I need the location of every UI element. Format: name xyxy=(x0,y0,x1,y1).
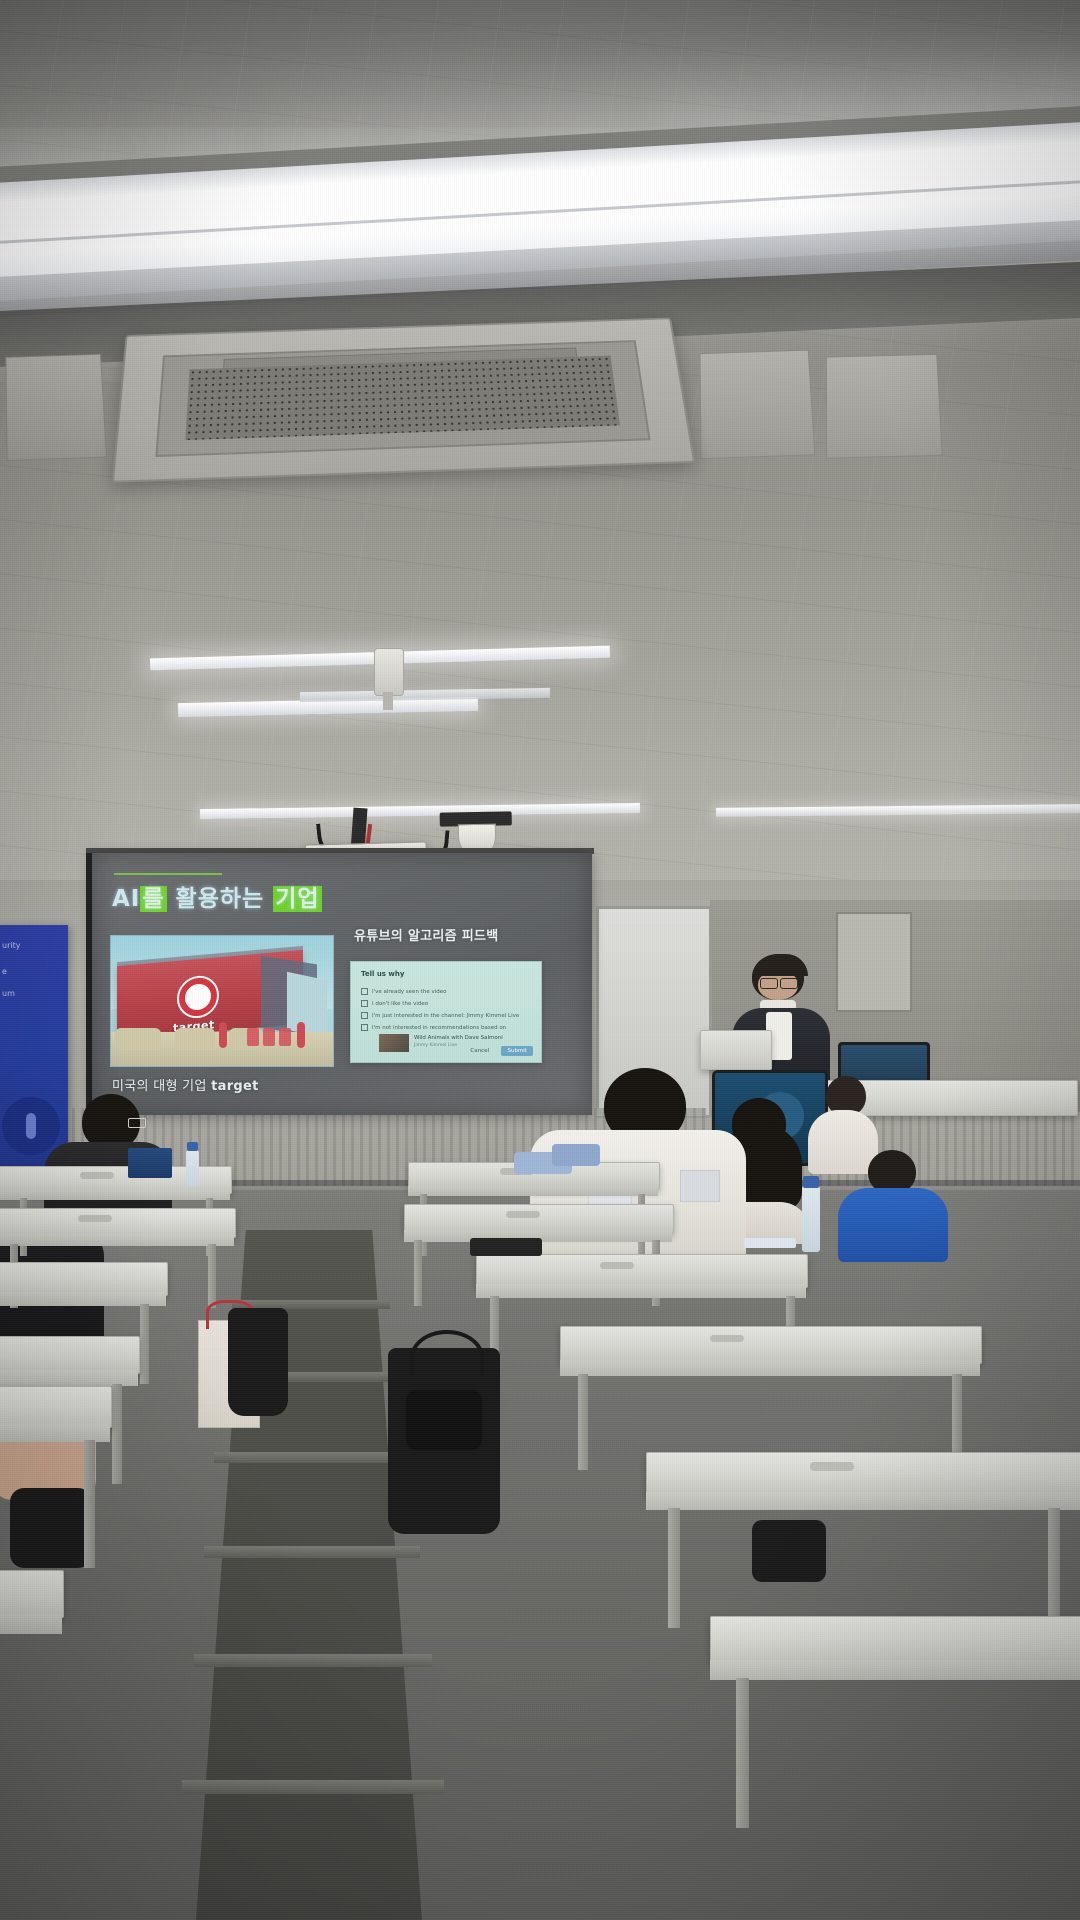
student-torso xyxy=(838,1188,948,1262)
slide-caption-plain: 미국의 대형 기업 xyxy=(112,1079,211,1094)
presenter-glasses-icon-right xyxy=(780,978,798,989)
classroom-photo: urity e um AI를 활용하는 기업 target xyxy=(0,0,1080,1920)
yt-video-thumbnail xyxy=(379,1034,409,1052)
backpack-pocket xyxy=(406,1390,482,1450)
yt-cancel-button: Cancel xyxy=(464,1046,495,1056)
slide-title: AI를 활용하는 기업 xyxy=(112,879,322,913)
yt-option-0-label: I've already seen the video xyxy=(372,989,446,995)
backpack-left xyxy=(228,1308,288,1416)
bottle-cap-left xyxy=(187,1142,198,1151)
banner-line-2: e xyxy=(2,965,62,978)
desk-leg xyxy=(84,1440,95,1568)
presenter-glasses-icon xyxy=(760,978,778,989)
desk-row6-left-front xyxy=(0,1614,62,1634)
desk-leg xyxy=(736,1678,749,1828)
desk-leg xyxy=(668,1508,680,1628)
ac-side-far-right-grille xyxy=(826,354,943,459)
aisle-step-4 xyxy=(204,1546,420,1558)
wall-panel-right-inset xyxy=(836,912,912,1012)
desk-row1-left-front xyxy=(0,1190,230,1200)
desk-notch xyxy=(80,1172,114,1179)
photo-entry-pillar-2 xyxy=(297,1022,305,1048)
yt-video-title: Wild Animals with Dave Salmoni xyxy=(414,1035,503,1041)
backpack-strap xyxy=(410,1330,484,1376)
yt-option-1: I don't like the video xyxy=(361,1000,428,1007)
ceiling-ac-cassette xyxy=(112,317,695,482)
aisle-step-6 xyxy=(182,1780,444,1794)
shirt-graphic-2 xyxy=(680,1170,720,1202)
yt-option-2-label: I'm just interested in the channel: Jimm… xyxy=(372,1013,519,1019)
banner-line-3: um xyxy=(2,987,62,1000)
slide-caption: 미국의 대형 기업 target xyxy=(112,1075,259,1094)
desk-row4-right-front xyxy=(560,1360,980,1376)
photo-shrub-1 xyxy=(115,1028,161,1050)
desk-notch xyxy=(600,1262,634,1269)
student-back-right-2 xyxy=(838,1150,948,1260)
paper-on-desk xyxy=(744,1238,796,1248)
photo-shrub-2 xyxy=(175,1028,215,1050)
aisle-step-3 xyxy=(214,1452,410,1463)
desk-leg xyxy=(1048,1508,1060,1628)
photo-cart-3 xyxy=(279,1028,291,1046)
desk-notch xyxy=(710,1335,744,1342)
checkbox-icon xyxy=(361,1012,368,1019)
desk-row5-right-front xyxy=(646,1492,1080,1510)
desk-leg xyxy=(414,1240,422,1306)
yt-video-channel: Jimmy Kimmel Live xyxy=(414,1043,457,1048)
slide-title-highlight-1: 를 xyxy=(140,886,166,912)
yt-option-2: I'm just interested in the channel: Jimm… xyxy=(361,1012,519,1019)
yt-option-1-label: I don't like the video xyxy=(372,1001,428,1007)
desk-row5-right xyxy=(646,1452,1080,1496)
desk-row2-left-front xyxy=(0,1234,234,1246)
yt-submit-button: Submit xyxy=(501,1046,533,1056)
folded-jacket-2 xyxy=(552,1144,600,1166)
desk-notch xyxy=(506,1211,540,1218)
desk-leg xyxy=(578,1374,588,1470)
slide-caption-bold: target xyxy=(211,1079,259,1094)
desk-leg xyxy=(112,1384,122,1484)
desk-row5-left xyxy=(0,1386,112,1428)
target-store-photo: target xyxy=(110,935,334,1067)
desk-notch xyxy=(78,1215,112,1222)
student-sock xyxy=(10,1488,92,1568)
checkbox-icon xyxy=(361,1024,368,1031)
student-glasses-icon xyxy=(128,1118,146,1128)
yt-option-3: I'm not interested in recommendations ba… xyxy=(361,1024,506,1031)
bottle-cap-right xyxy=(803,1176,819,1188)
desk-row1-right-front xyxy=(408,1186,658,1196)
tablet-on-desk xyxy=(470,1238,542,1256)
ceiling-sprinkler xyxy=(370,648,406,712)
aisle-step-5 xyxy=(194,1654,432,1667)
slide-accent-line xyxy=(114,873,222,875)
youtube-feedback-dialog: Tell us why I've already seen the video … xyxy=(350,961,542,1063)
presentation-slide: AI를 활용하는 기업 target 미국의 대형 기업 xyxy=(92,853,592,1115)
water-bottle-left xyxy=(186,1150,199,1186)
slide-title-highlight-2: 기업 xyxy=(273,886,321,912)
photo-entry-pillar-1 xyxy=(219,1022,227,1048)
slide-title-middle: 활용하는 xyxy=(167,886,274,912)
desk-row3-right xyxy=(476,1254,808,1288)
yt-option-0: I've already seen the video xyxy=(361,988,446,995)
desk-notch xyxy=(810,1462,854,1471)
desk-row3-right-front xyxy=(476,1284,806,1298)
checkbox-icon xyxy=(361,1000,368,1007)
checkbox-icon xyxy=(361,988,368,995)
desk-row3-left xyxy=(0,1262,168,1296)
desk-row4-right xyxy=(560,1326,982,1364)
laptop-screen xyxy=(128,1148,172,1178)
desk-row5-far-right-front xyxy=(710,1660,1080,1680)
water-bottle-right xyxy=(802,1186,820,1252)
desk-row5-far-right xyxy=(710,1616,1080,1664)
projection-screen: AI를 활용하는 기업 target 미국의 대형 기업 xyxy=(92,853,592,1115)
slide-title-prefix: AI xyxy=(112,886,140,912)
ac-side-right-grille xyxy=(699,350,815,460)
yt-dialog-title: Tell us why xyxy=(361,970,404,978)
desk-leg xyxy=(140,1304,149,1384)
slide-subheading: 유튜브의 알고리즘 피드백 xyxy=(354,925,499,944)
banner-line-1: urity xyxy=(2,939,62,952)
bag-under-desk-right xyxy=(752,1520,826,1582)
photo-building-glass xyxy=(287,972,327,1039)
lectern xyxy=(700,1030,772,1070)
photo-cart-2 xyxy=(263,1028,275,1046)
desk-leg xyxy=(208,1244,216,1308)
yt-option-3-label: I'm not interested in recommendations ba… xyxy=(372,1025,506,1031)
desk-row4-left xyxy=(0,1336,140,1374)
ac-side-left-grille xyxy=(5,354,107,461)
ceiling xyxy=(0,0,1080,900)
desk-row6-left xyxy=(0,1570,64,1618)
photo-cart-1 xyxy=(247,1028,259,1046)
